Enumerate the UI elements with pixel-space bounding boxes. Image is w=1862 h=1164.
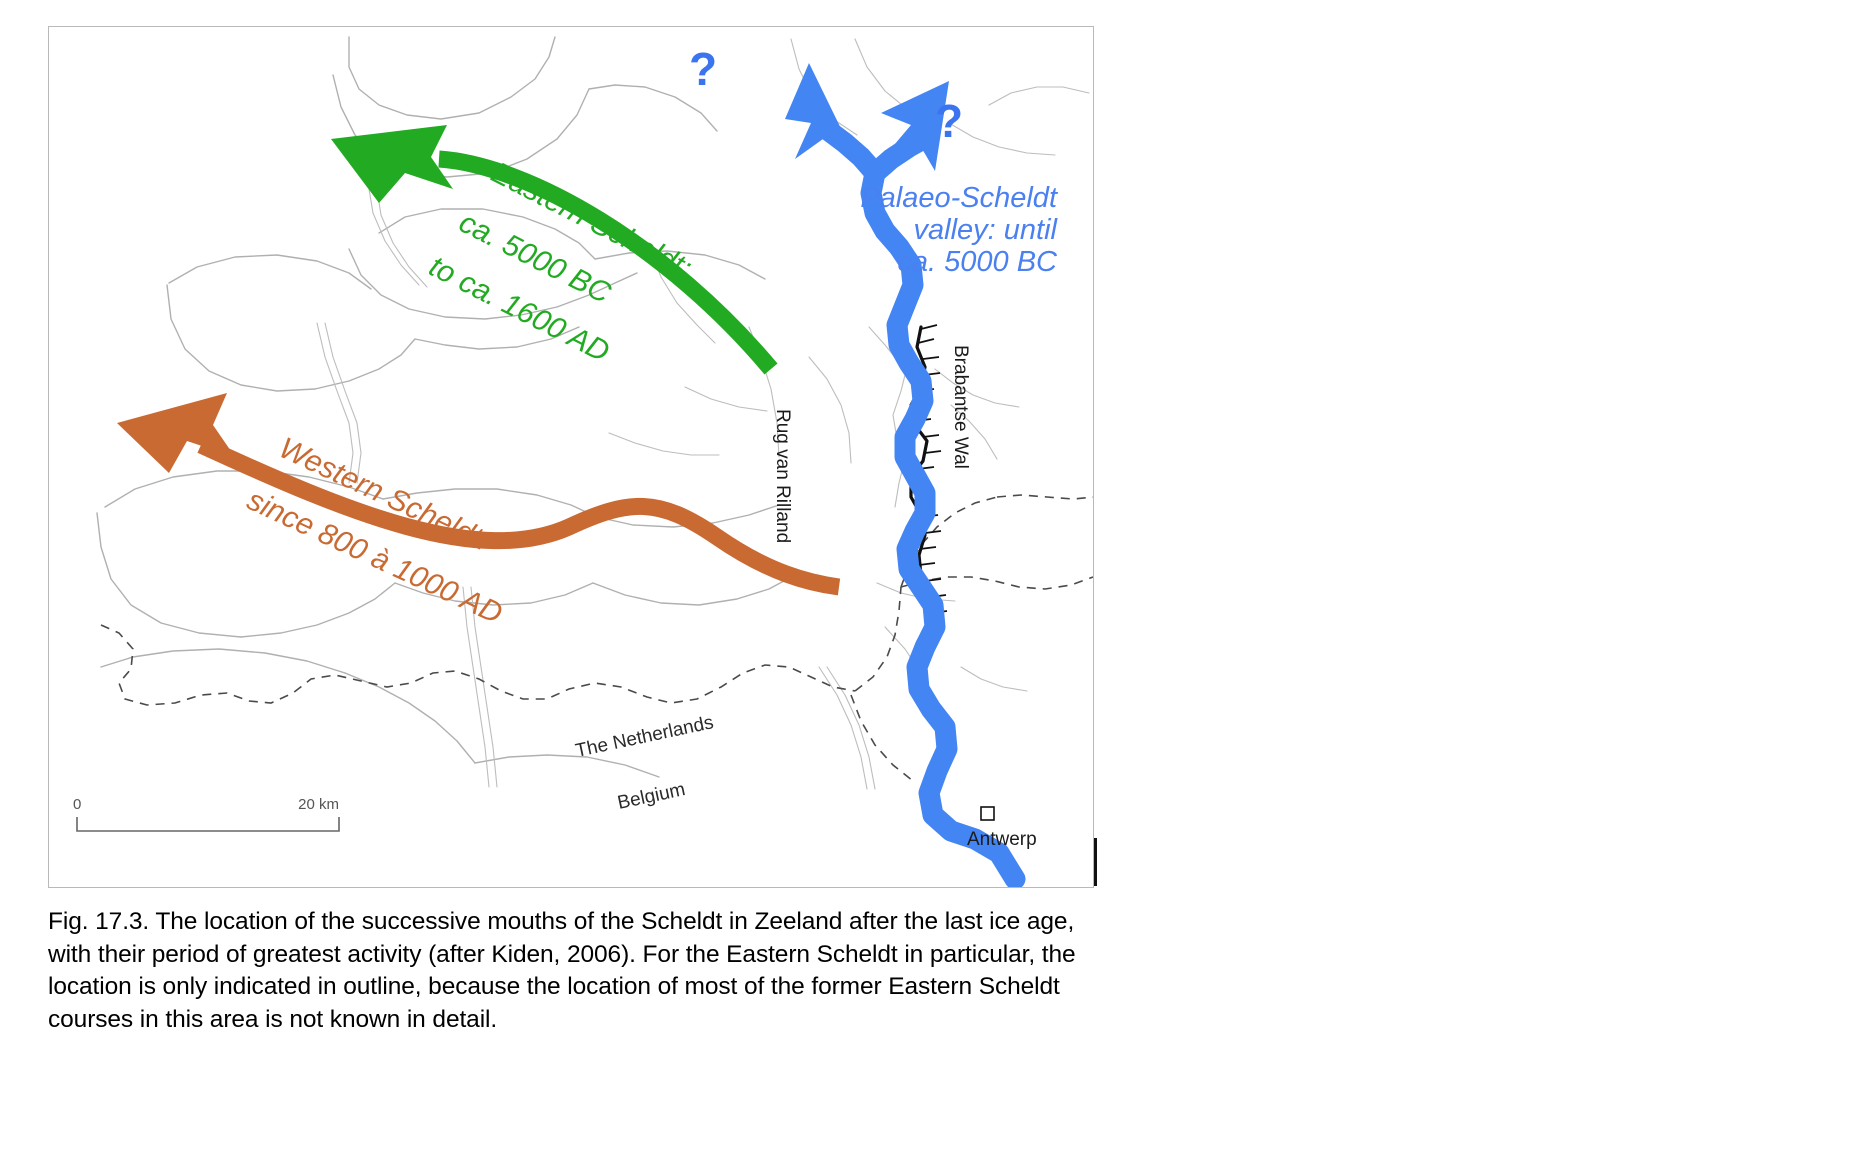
palaeo-scheldt-label-line1: Palaeo-Scheldt xyxy=(860,182,1059,214)
antwerp-marker: Antwerp xyxy=(967,807,1037,850)
western-scheldt-arrow xyxy=(117,393,839,587)
question-mark-right-icon: ? xyxy=(935,95,963,147)
map-frame: Eastern Scheldt: ca. 5000 BC to ca. 1600… xyxy=(48,26,1094,888)
figure-block: Eastern Scheldt: ca. 5000 BC to ca. 1600… xyxy=(48,26,1106,1026)
scale-bar-max-label: 20 km xyxy=(298,796,339,813)
label-rug-van-rilland: Rug van Rilland xyxy=(772,409,793,543)
scale-bar: 0 20 km xyxy=(73,796,339,831)
scale-bar-min-label: 0 xyxy=(73,796,81,813)
label-antwerp: Antwerp xyxy=(967,829,1037,850)
western-scheldt-label: Western Scheldt: since 800 à 1000 AD xyxy=(242,431,507,630)
map-canvas: Eastern Scheldt: ca. 5000 BC to ca. 1600… xyxy=(49,27,1094,888)
frame-right-tick xyxy=(1094,838,1097,886)
label-brabantse-wal: Brabantse Wal xyxy=(950,345,971,469)
label-belgium: Belgium xyxy=(616,779,688,814)
label-the-netherlands: The Netherlands xyxy=(574,712,716,762)
eastern-scheldt-arrowhead xyxy=(331,125,453,203)
palaeo-scheldt-label-line3: ca. 5000 BC xyxy=(897,246,1058,278)
question-mark-left-icon: ? xyxy=(689,43,717,95)
figure-caption: Fig. 17.3. The location of the successiv… xyxy=(48,906,1096,1036)
figure-page: Eastern Scheldt: ca. 5000 BC to ca. 1600… xyxy=(0,0,1862,1164)
eastern-scheldt-label: Eastern Scheldt: ca. 5000 BC to ca. 1600… xyxy=(424,156,697,369)
palaeo-scheldt-label-line2: valley: until xyxy=(914,214,1059,246)
coastline-outlines xyxy=(97,37,1089,789)
antwerp-square-icon xyxy=(981,807,994,820)
